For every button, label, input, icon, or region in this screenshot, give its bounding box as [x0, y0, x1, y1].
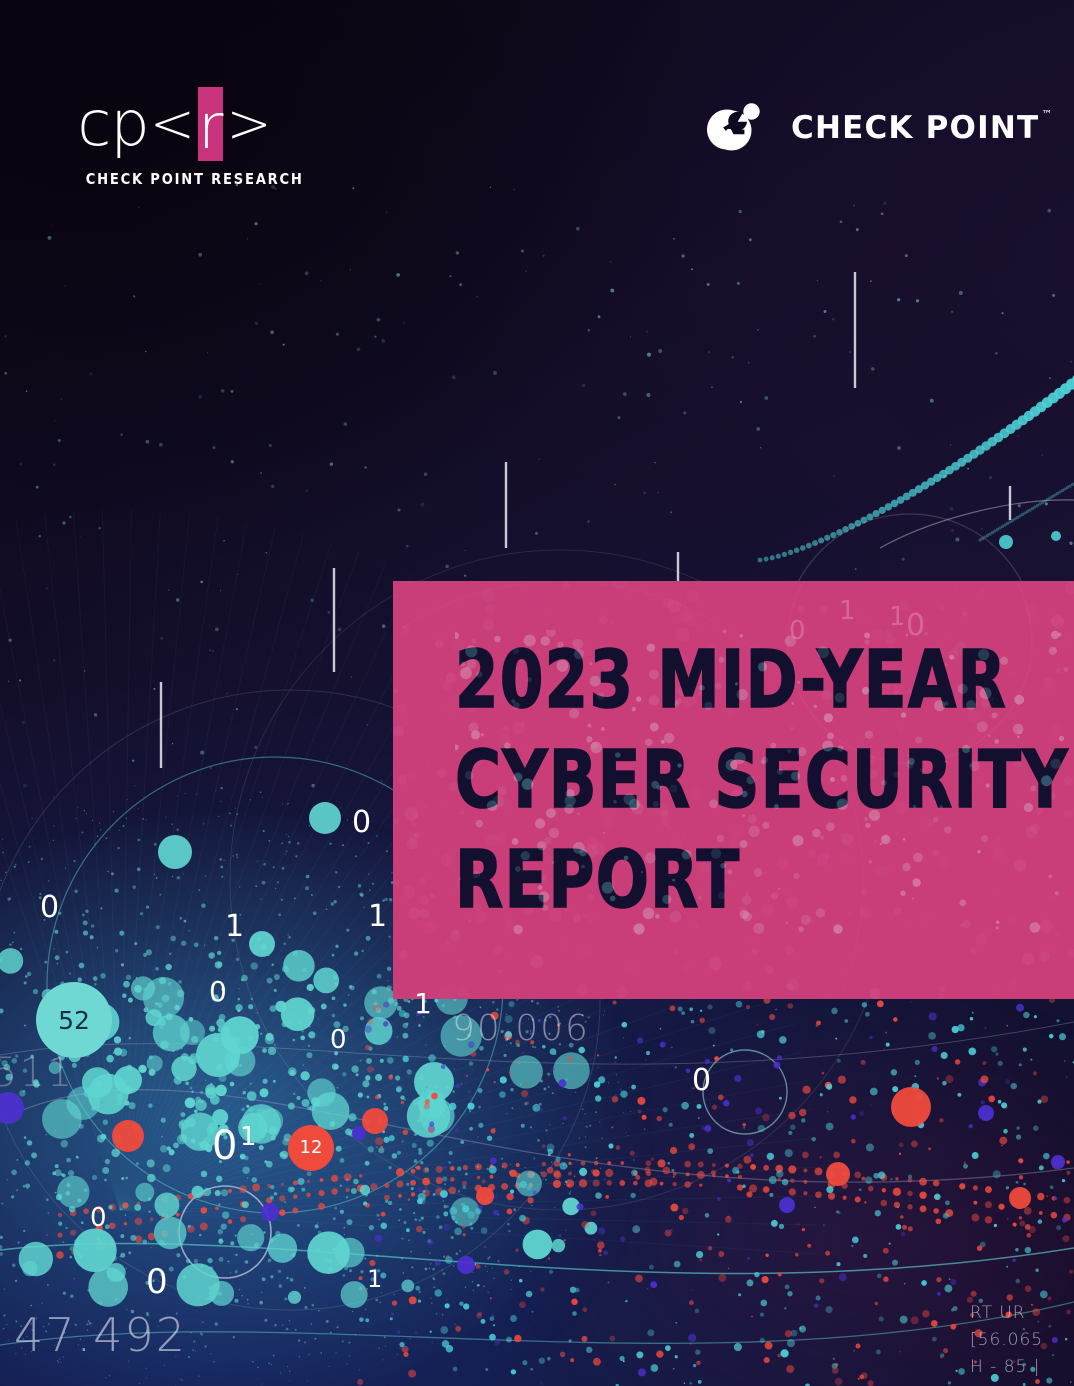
cpr-mark-r: r	[198, 99, 224, 155]
page-title: 2023 MID-YEAR CYBER SECURITY REPORT	[455, 630, 1055, 930]
binary-digit: 0	[352, 808, 371, 838]
overlay-number-90006: 90.006	[452, 1008, 590, 1049]
cpr-mark-r-badge: r	[198, 87, 224, 161]
check-point-logo-icon	[705, 100, 777, 156]
cpr-logo-mark: cp < r >	[80, 88, 270, 160]
binary-digit: 1	[367, 1267, 382, 1291]
binary-digit: 1	[368, 902, 387, 932]
binary-digit: 1	[225, 912, 244, 942]
cpr-mark-greater-than: >	[226, 93, 271, 155]
corner-readout-line-2: [56.065	[970, 1327, 1074, 1354]
check-point-wordmark: CHECK POINT™	[791, 110, 1039, 146]
check-point-wordmark-text: CHECK POINT	[791, 110, 1039, 146]
binary-digit: 0	[146, 1265, 168, 1299]
overlay-number-47492: 47.492	[14, 1308, 187, 1362]
data-bubble: 52	[36, 982, 112, 1058]
binary-digit: 0	[40, 893, 59, 923]
data-bubble: 12	[288, 1125, 334, 1171]
binary-digit: 0	[330, 1027, 347, 1053]
corner-readout: RT UR [56.065 H - 85 |	[970, 1300, 1074, 1381]
trademark-symbol: ™	[1041, 108, 1052, 121]
corner-readout-line-3: H - 85 |	[970, 1354, 1074, 1381]
binary-digit: 1	[414, 990, 432, 1018]
corner-readout-line-1: RT UR	[970, 1300, 1074, 1327]
banner-binary-digit: 1	[839, 598, 856, 624]
binary-digit: 0	[90, 1205, 107, 1231]
check-point-research-logo: cp < r > CHECK POINT RESEARCH	[80, 88, 270, 188]
banner-binary-digit: 1	[889, 604, 906, 630]
title-line-1: 2023 MID-YEAR	[455, 630, 983, 730]
cpr-mark-less-than: <	[150, 93, 195, 155]
overlay-number-511: 511	[0, 1050, 74, 1096]
report-cover-page: 0110 2023 MID-YEAR CYBER SECURITY REPORT…	[0, 0, 1074, 1386]
cpr-wordmark: CHECK POINT RESEARCH	[86, 170, 265, 188]
title-line-3: REPORT	[455, 830, 983, 930]
binary-digit: 0	[209, 978, 227, 1006]
title-line-2: CYBER SECURITY	[455, 730, 983, 830]
binary-digit: 0	[692, 1066, 711, 1096]
binary-digit: 1	[240, 1124, 257, 1150]
binary-digit: 0	[212, 1126, 237, 1166]
check-point-logo: CHECK POINT™	[705, 100, 1039, 156]
cpr-mark-cp: cp	[77, 93, 148, 155]
